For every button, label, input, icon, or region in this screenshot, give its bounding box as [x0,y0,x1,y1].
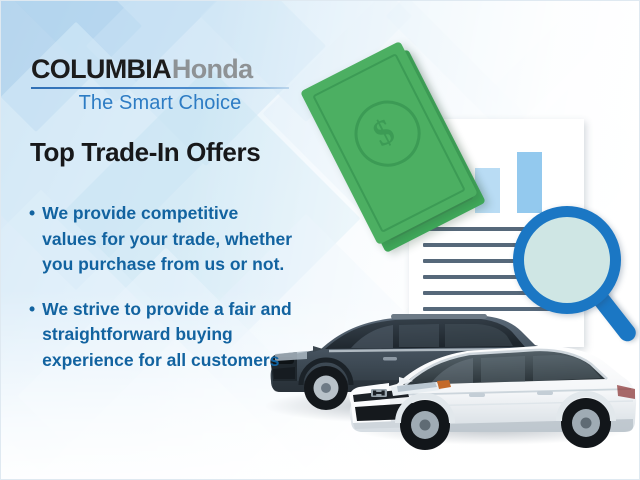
page-title: Top Trade-In Offers [30,137,260,168]
dollar-banknote-icon: $ [321,39,521,249]
logo-primary-text: COLUMBIA [31,56,171,83]
trade-in-offers-ad: $ [0,0,640,480]
list-item-text: We strive to provide a fair and straight… [42,297,297,374]
logo-wordmark: COLUMBIA Honda [31,56,293,83]
logo-divider [31,87,289,89]
vehicle-photos [263,301,640,461]
logo-tagline: The Smart Choice [31,92,289,115]
bullet-marker-icon: • [29,201,35,278]
list-item: • We strive to provide a fair and straig… [29,297,297,374]
logo-secondary-text: Honda [172,56,253,83]
honda-emblem [371,389,387,397]
list-item: • We provide competitive values for your… [29,201,297,278]
bullet-marker-icon: • [29,297,35,374]
offer-bullet-list: • We provide competitive values for your… [29,201,297,392]
honda-sedan [341,337,640,455]
magnifier-lens [513,206,621,314]
list-item-text: We provide competitive values for your t… [42,201,297,278]
dealer-logo[interactable]: COLUMBIA Honda The Smart Choice [31,56,293,115]
